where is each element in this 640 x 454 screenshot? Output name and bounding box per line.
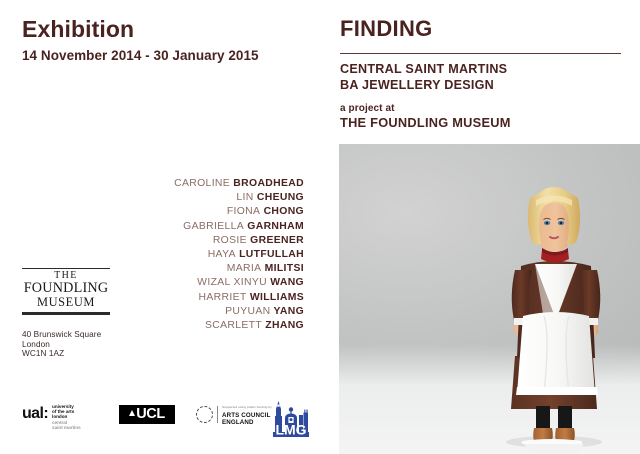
address-postcode: WC1N 1AZ [22, 349, 101, 359]
exhibition-name: FINDING [340, 16, 433, 42]
list-item: CAROLINE BROADHEAD [174, 177, 304, 191]
list-item: PUYUAN YANG [174, 305, 304, 319]
arts-council-line1: ARTS COUNCIL [222, 412, 272, 419]
lmg-building-icon: LMG [268, 396, 314, 440]
artist-first-name: CAROLINE [174, 178, 230, 189]
left-panel: Exhibition 14 November 2014 - 30 January… [0, 0, 339, 454]
ucl-logo: UCL [119, 405, 175, 424]
artist-last-name: GARNHAM [244, 221, 304, 232]
page-title: Exhibition [22, 16, 134, 43]
artist-first-name: LIN [236, 192, 253, 203]
list-item: HAYA LUTFULLAH [174, 248, 304, 262]
course-line-degree: BA JEWELLERY DESIGN [340, 78, 507, 94]
list-item: ROSIE GREENER [174, 234, 304, 248]
doll-figure [339, 144, 640, 454]
logo-line-museum: MUSEUM [22, 296, 110, 309]
logo-rule-bottom [22, 312, 110, 315]
lmg-wordmark: LMG [275, 422, 306, 438]
exhibition-dates: 14 November 2014 - 30 January 2015 [22, 48, 259, 63]
course-info: CENTRAL SAINT MARTINS BA JEWELLERY DESIG… [340, 62, 507, 93]
artist-first-name: PUYUAN [225, 306, 270, 317]
project-venue: THE FOUNDLING MUSEUM [340, 115, 511, 131]
poster-page: Exhibition 14 November 2014 - 30 January… [0, 0, 640, 454]
artist-first-name: SCARLETT [205, 320, 262, 331]
artist-last-name: ZHANG [262, 320, 304, 331]
artist-last-name: WILLIAMS [247, 292, 304, 303]
header-divider [340, 53, 621, 54]
artist-first-name: ROSIE [213, 235, 247, 246]
partner-logos: ual: university of the arts london centr… [0, 396, 339, 442]
ual-wordmark: ual: [22, 406, 48, 422]
artist-last-name: GREENER [247, 235, 304, 246]
lmg-logo: LMG [268, 396, 314, 440]
address-city: London [22, 340, 101, 350]
list-item: FIONA CHONG [174, 205, 304, 219]
artist-first-name: HARRIET [199, 292, 247, 303]
right-panel: FINDING CENTRAL SAINT MARTINS BA JEWELLE… [339, 0, 640, 454]
arts-council-text: Supported using public funding by ARTS C… [222, 404, 272, 426]
artist-last-name: YANG [270, 306, 304, 317]
list-item: HARRIET WILLIAMS [174, 291, 304, 305]
address-street: 40 Brunswick Square [22, 330, 101, 340]
artist-last-name: CHEUNG [254, 192, 304, 203]
artist-names-list: CAROLINE BROADHEADLIN CHEUNGFIONA CHONGG… [174, 177, 304, 333]
ucl-triangle-icon [129, 410, 135, 416]
list-item: SCARLETT ZHANG [174, 319, 304, 333]
artist-last-name: BROADHEAD [230, 178, 304, 189]
arts-council-supported-by: Supported using public funding by [222, 404, 272, 410]
artist-first-name: GABRIELLA [183, 221, 244, 232]
artist-first-name: WIZAL XINYU [197, 277, 267, 288]
logo-wordmark: THE FOUNDLING MUSEUM [22, 269, 110, 310]
venue-address: 40 Brunswick Square London WC1N 1AZ [22, 330, 101, 359]
ucl-wordmark: UCL [136, 407, 165, 422]
arts-council-logo: Supported using public funding by ARTS C… [196, 404, 272, 426]
project-venue-block: a project at THE FOUNDLING MUSEUM [340, 103, 511, 131]
course-line-school: CENTRAL SAINT MARTINS [340, 62, 507, 78]
list-item: GABRIELLA GARNHAM [174, 220, 304, 234]
logo-line-foundling: FOUNDLING [22, 281, 110, 296]
list-item: LIN CHEUNG [174, 191, 304, 205]
foundling-museum-logo: THE FOUNDLING MUSEUM [22, 268, 110, 315]
artist-first-name: HAYA [208, 249, 236, 260]
arts-council-line2: ENGLAND [222, 419, 272, 426]
project-prefix: a project at [340, 103, 511, 115]
artist-last-name: MILITSI [261, 263, 304, 274]
logo-divider [217, 406, 218, 423]
list-item: MARIA MILITSI [174, 262, 304, 276]
ual-logo: ual: university of the arts london centr… [22, 402, 81, 430]
ual-line-saint-martins: saint martins [52, 425, 81, 430]
artist-last-name: LUTFULLAH [236, 249, 304, 260]
exhibition-photo [339, 144, 640, 454]
artist-last-name: WANG [267, 277, 304, 288]
list-item: WIZAL XINYU WANG [174, 276, 304, 290]
artist-first-name: FIONA [227, 206, 261, 217]
ual-subtext: university of the arts london central sa… [52, 404, 81, 430]
artist-last-name: CHONG [260, 206, 304, 217]
arts-council-ring-icon [196, 406, 213, 423]
artist-first-name: MARIA [227, 263, 262, 274]
